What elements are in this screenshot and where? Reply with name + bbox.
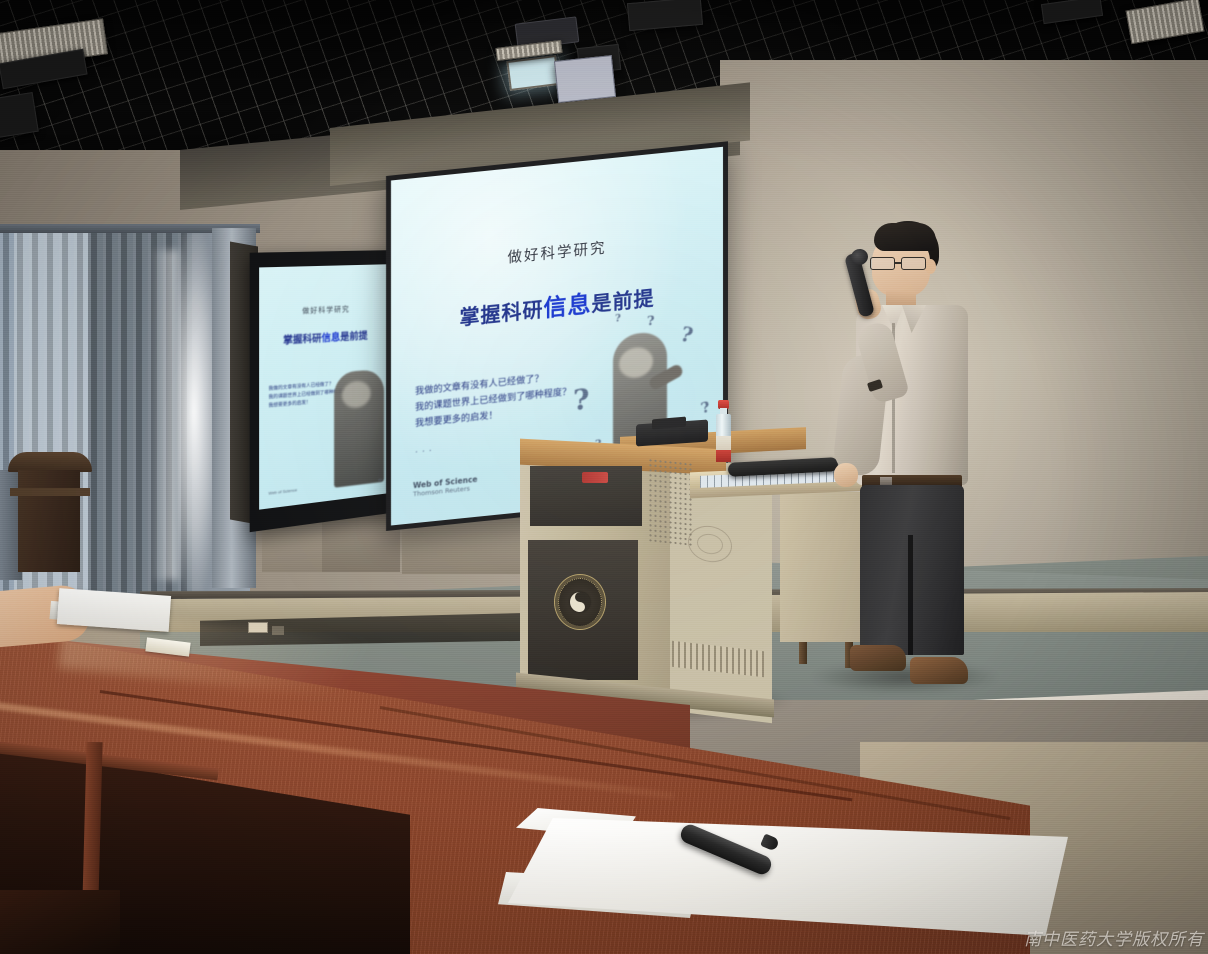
taiji-yinyang-icon <box>570 592 590 612</box>
lecture-hall-photo: 做好科学研究 掌握科研信息是前提 我做的文章有没有人已经做了？ 我的课题世界上已… <box>0 0 1208 954</box>
secondary-slide-subtitle: 掌握科研信息是前提 <box>259 326 390 348</box>
presenter <box>820 205 1000 695</box>
university-seal-emblem <box>554 574 606 630</box>
paper-stack <box>57 588 171 632</box>
question-mark-icon: ? <box>573 382 589 417</box>
trouser-leg-gap <box>908 535 913 655</box>
copyright-watermark: 南中医药大学版权所有 <box>1024 925 1204 950</box>
secondary-slide-person-graphic <box>334 369 384 488</box>
glasses-lens <box>870 257 895 270</box>
secondary-projection-screen: 做好科学研究 掌握科研信息是前提 我做的文章有没有人已经做了？ 我的课题世界上已… <box>250 250 398 532</box>
window-glare <box>150 250 178 580</box>
podium-brand-badge <box>582 472 608 483</box>
presenter-hair-front <box>874 223 936 251</box>
lectern-body <box>18 470 80 572</box>
secondary-subtitle-highlight: 信息 <box>322 332 341 344</box>
glasses-bridge <box>895 262 901 264</box>
question-mark-icon: ? <box>615 313 621 325</box>
glasses-lens <box>901 257 926 270</box>
wooden-lectern <box>8 452 92 572</box>
ceiling-light-icon <box>506 55 559 91</box>
secondary-slide-title: 做好科学研究 <box>259 302 390 318</box>
presenter-shoe <box>850 645 906 671</box>
lectern-ledge <box>10 488 90 496</box>
question-mark-icon: ? <box>647 314 655 330</box>
presenter-lower-hand <box>834 463 858 487</box>
question-mark-icon: ? <box>699 398 711 418</box>
desk-corner-shadow <box>0 890 120 954</box>
secondary-slide-corner-mark: ISI <box>378 478 382 483</box>
secondary-subtitle-pre: 掌握科研 <box>283 333 321 347</box>
presenter-shoe <box>910 657 968 684</box>
question-mark-icon: ? <box>678 322 696 348</box>
podium-speaker-grill-icon <box>648 458 694 547</box>
secondary-subtitle-post: 是前提 <box>340 331 367 344</box>
glasses-icon <box>870 257 932 270</box>
bottle-label-red <box>716 450 731 462</box>
secondary-screen-surface: 做好科学研究 掌握科研信息是前提 我做的文章有没有人已经做了？ 我的课题世界上已… <box>259 264 390 509</box>
projector-panel <box>554 55 616 103</box>
secondary-slide-logo: Web of Science <box>268 487 297 496</box>
water-bottle <box>716 400 731 462</box>
lectern-top <box>8 452 92 472</box>
